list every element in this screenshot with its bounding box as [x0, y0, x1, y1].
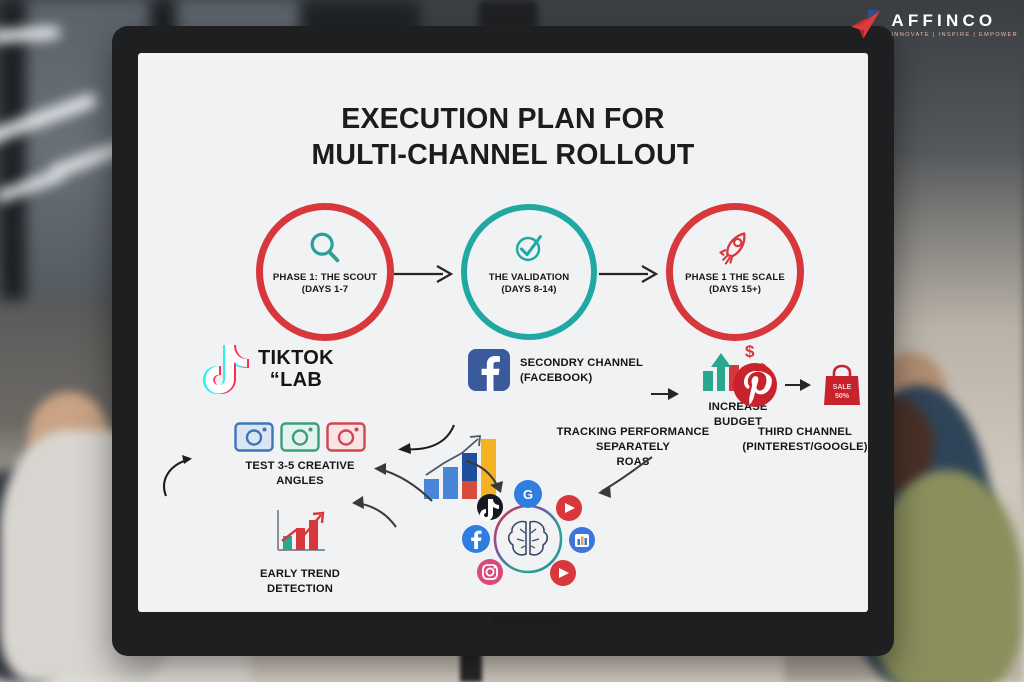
- title-line-2: MULTI-CHANNEL ROLLOUT: [138, 137, 868, 173]
- affinco-logo: AFFINCO INNOVATE | INSPIRE | EMPOWER: [846, 8, 1018, 42]
- brain-icon: [509, 522, 548, 555]
- curved-arrow-icon: [350, 487, 400, 531]
- person-right-woman-body: [872, 470, 1022, 682]
- svg-text:$: $: [745, 342, 755, 361]
- shopping-bag-icon: SALE 50%: [821, 363, 863, 407]
- secondary-channel-line1: SECONDRY CHANNEL: [520, 356, 643, 371]
- third-channel-label: THIRD CHANNEL (PINTEREST/GOOGLE): [710, 425, 868, 455]
- curved-arrow-icon: [156, 441, 216, 501]
- secondary-channel-line2: (FACEBOOK): [520, 371, 643, 386]
- phase-validation-label: THE VALIDATION (DAYS 8-14): [489, 272, 569, 297]
- svg-text:SALE: SALE: [833, 384, 852, 391]
- phase-scale-label-line1: PHASE 1 THE SCALE: [685, 272, 785, 284]
- camera-icon-blue: [234, 422, 274, 452]
- tiktok-lab-text: TIKTOK “LAB: [258, 347, 334, 392]
- early-trend-line2: DETECTION: [220, 582, 380, 597]
- phase-validation[interactable]: THE VALIDATION (DAYS 8-14): [461, 204, 597, 340]
- creative-angles-label: TEST 3-5 CREATIVE ANGLES: [210, 459, 390, 489]
- rocket-icon: [715, 226, 755, 270]
- check-circle-icon: [510, 226, 548, 270]
- arrow-right-icon: [650, 383, 682, 405]
- phase-scale-label: PHASE 1 THE SCALE (DAYS 15+): [685, 272, 785, 297]
- tiktok-text-line1: TIKTOK: [258, 347, 334, 369]
- third-channel-line1: THIRD CHANNEL: [710, 425, 868, 440]
- whiteboard-frame: EXECUTION PLAN FOR MULTI-CHANNEL ROLLOUT…: [112, 26, 894, 656]
- arrow-right-icon: [393, 265, 455, 283]
- creative-angles-line1: TEST 3-5 CREATIVE: [210, 459, 390, 474]
- phase-validation-label-line2: (DAYS 8-14): [489, 284, 569, 296]
- magnifier-icon: [306, 226, 344, 270]
- phase-scout-label-line2: (DAYS 1-7: [273, 284, 377, 296]
- tiktok-text-line2: “LAB: [258, 369, 334, 391]
- early-trend-label: EARLY TREND DETECTION: [220, 567, 380, 597]
- creative-angles-block[interactable]: TEST 3-5 CREATIVE ANGLES: [210, 422, 390, 489]
- phase-scout-label-line1: PHASE 1: THE SCOUT: [273, 272, 377, 284]
- phase-scout-label: PHASE 1: THE SCOUT (DAYS 1-7: [273, 272, 377, 297]
- phase-scout[interactable]: PHASE 1: THE SCOUT (DAYS 1-7: [256, 203, 394, 341]
- central-hub-block[interactable]: G: [438, 477, 618, 612]
- third-channel-block: THIRD CHANNEL (PINTEREST/GOOGLE): [710, 425, 868, 455]
- secondary-channel-block[interactable]: SECONDRY CHANNEL (FACEBOOK): [468, 349, 643, 391]
- roas-line1: TRACKING PERFORMANCE: [533, 425, 733, 440]
- arrow-right-icon: [784, 375, 814, 395]
- early-trend-line1: EARLY TREND: [220, 567, 380, 582]
- central-hub-diagram: G: [438, 477, 618, 601]
- tiktok-logo-icon: [198, 341, 250, 397]
- instagram-icon: [477, 559, 503, 585]
- tiktok-lab-block[interactable]: TIKTOK “LAB: [198, 341, 334, 397]
- whiteboard-canvas: EXECUTION PLAN FOR MULTI-CHANNEL ROLLOUT…: [138, 53, 868, 612]
- paper-plane-icon: [846, 8, 884, 42]
- phase-scale-label-line2: (DAYS 15+): [685, 284, 785, 296]
- svg-text:50%: 50%: [835, 393, 850, 400]
- camera-icon-row: [210, 422, 390, 452]
- title-line-1: EXECUTION PLAN FOR: [138, 101, 868, 137]
- logo-name: AFFINCO: [891, 12, 1018, 29]
- facebook-logo-icon: [468, 349, 510, 391]
- camera-icon-green: [280, 422, 320, 452]
- svg-text:G: G: [523, 487, 533, 502]
- phase-validation-label-line1: THE VALIDATION: [489, 272, 569, 284]
- third-channel-icons[interactable]: SALE 50%: [733, 363, 863, 407]
- logo-tagline: INNOVATE | INSPIRE | EMPOWER: [891, 33, 1018, 39]
- pinterest-logo-icon: [733, 363, 777, 407]
- third-channel-line2: (PINTEREST/GOOGLE): [710, 440, 868, 455]
- phase-scale[interactable]: PHASE 1 THE SCALE (DAYS 15+): [666, 203, 804, 341]
- secondary-channel-label: SECONDRY CHANNEL (FACEBOOK): [520, 349, 643, 386]
- page-title: EXECUTION PLAN FOR MULTI-CHANNEL ROLLOUT: [138, 101, 868, 174]
- arrow-right-icon: [598, 265, 660, 283]
- camera-icon-red: [326, 422, 366, 452]
